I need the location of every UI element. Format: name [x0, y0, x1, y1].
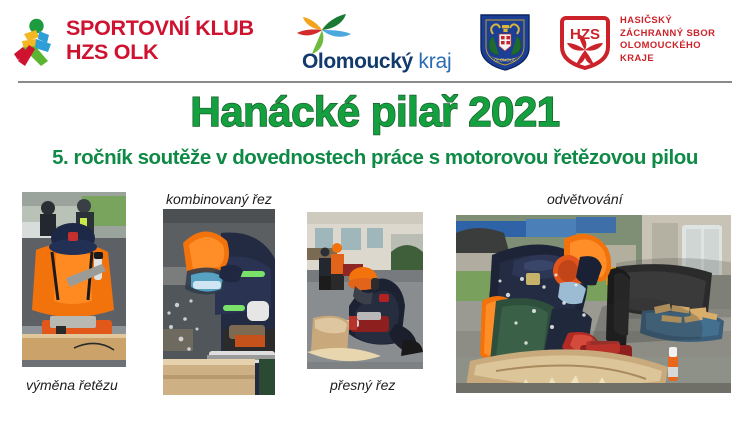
header-logo-bar: SPORTOVNÍ KLUB HZS OLK Olomoucký kraj	[0, 0, 750, 83]
region-name-bold: Olomoucký	[302, 50, 413, 73]
caption-precise-cut: přesný řez	[330, 377, 395, 393]
poster-canvas: SPORTOVNÍ KLUB HZS OLK Olomoucký kraj	[0, 0, 750, 422]
hzs-shield-icon: HZS	[558, 14, 612, 70]
caption-chain-change: výměna řetězu	[26, 377, 118, 393]
hzs-logo: HZS HASIČSKÝ ZÁCHRANNÝ SBOR OLOMOUCKÉHO …	[558, 12, 750, 74]
photo-precise-cut	[307, 212, 423, 369]
olomouc-city-crest-icon: OLOMOUC	[477, 12, 533, 72]
photo-chain-change	[22, 192, 126, 367]
caption-delimbing: odvětvování	[547, 191, 623, 207]
olomoucky-kraj-wordmark: Olomoucký kraj	[302, 50, 451, 74]
caption-combined-cut: kombinovaný řez	[166, 191, 272, 207]
photo-delimbing	[456, 215, 731, 393]
header-divider	[18, 81, 732, 83]
sport-club-name: SPORTOVNÍ KLUB HZS OLK	[66, 16, 254, 64]
sport-club-logo: SPORTOVNÍ KLUB HZS OLK	[14, 16, 274, 68]
hzs-name: HASIČSKÝ ZÁCHRANNÝ SBOR OLOMOUCKÉHO KRAJ…	[620, 14, 715, 64]
page-title: Hanácké pilař 2021	[0, 88, 750, 136]
region-name-light: kraj	[413, 50, 452, 73]
olomoucky-kraj-flower-icon	[294, 10, 352, 55]
page-subtitle: 5. ročník soutěže v dovednostech práce s…	[0, 146, 750, 170]
running-figure-icon	[14, 17, 60, 67]
photo-combined-cut	[163, 209, 275, 395]
crest-label: OLOMOUC	[494, 57, 516, 62]
olomoucky-kraj-logo: Olomoucký kraj	[292, 10, 467, 75]
